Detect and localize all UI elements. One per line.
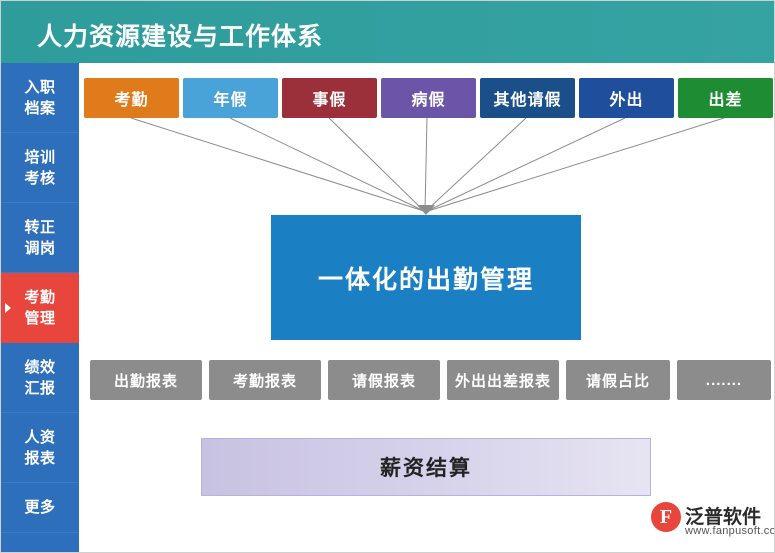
caret-right-icon bbox=[5, 303, 11, 313]
category-chip-label: 外出 bbox=[609, 86, 643, 110]
report-chip-label: ....... bbox=[706, 372, 742, 389]
category-chip-label: 事假 bbox=[312, 86, 346, 110]
category-chip-1[interactable]: 年假 bbox=[183, 78, 278, 118]
sidebar-item-label: 转正 调岗 bbox=[24, 217, 55, 259]
report-chip-label: 请假报表 bbox=[352, 370, 416, 391]
report-chip-label: 出勤报表 bbox=[114, 370, 178, 391]
sidebar-item-0[interactable]: 入职 档案 bbox=[1, 63, 79, 133]
report-chip-5[interactable]: ....... bbox=[677, 360, 771, 400]
report-chip-3[interactable]: 外出出差报表 bbox=[447, 360, 559, 400]
category-chip-label: 考勤 bbox=[114, 86, 148, 110]
category-chip-label: 年假 bbox=[213, 86, 247, 110]
report-chip-1[interactable]: 考勤报表 bbox=[209, 360, 321, 400]
report-chip-2[interactable]: 请假报表 bbox=[328, 360, 440, 400]
category-chip-0[interactable]: 考勤 bbox=[84, 78, 179, 118]
sidebar-item-label: 人资 报表 bbox=[24, 427, 55, 469]
category-chip-5[interactable]: 外出 bbox=[579, 78, 674, 118]
category-chip-2[interactable]: 事假 bbox=[282, 78, 377, 118]
diagram-canvas: 考勤 年假 事假 病假 其他请假 外出 出差 一体化的出勤管理 出勤报表 考勤报… bbox=[79, 63, 775, 553]
report-chip-0[interactable]: 出勤报表 bbox=[90, 360, 202, 400]
sidebar-item-label: 培训 考核 bbox=[24, 147, 55, 189]
arrow-head-icon bbox=[417, 205, 435, 215]
report-chip-label: 请假占比 bbox=[586, 370, 650, 391]
category-chip-3[interactable]: 病假 bbox=[381, 78, 476, 118]
category-chip-6[interactable]: 出差 bbox=[678, 78, 773, 118]
category-chip-label: 出差 bbox=[708, 86, 742, 110]
category-chip-label: 其他请假 bbox=[493, 86, 561, 110]
sidebar-item-5[interactable]: 人资 报表 bbox=[1, 413, 79, 483]
center-node-label: 一体化的出勤管理 bbox=[318, 260, 534, 296]
sidebar-item-label: 绩效 汇报 bbox=[24, 357, 55, 399]
page-header: 人力资源建设与工作体系 bbox=[1, 1, 775, 63]
brand-logo: F 泛普软件 www.fanpusoft.com bbox=[651, 500, 771, 546]
category-chip-4[interactable]: 其他请假 bbox=[480, 78, 575, 118]
report-chip-label: 考勤报表 bbox=[233, 370, 297, 391]
sidebar-item-3-active[interactable]: 考勤 管理 bbox=[1, 273, 79, 343]
category-chip-label: 病假 bbox=[411, 86, 445, 110]
salary-node-label: 薪资结算 bbox=[380, 452, 472, 482]
center-node[interactable]: 一体化的出勤管理 bbox=[271, 215, 581, 340]
page-title: 人力资源建设与工作体系 bbox=[37, 17, 323, 53]
report-chip-label: 外出出差报表 bbox=[455, 370, 551, 391]
logo-mark-icon: F bbox=[651, 502, 681, 532]
salary-node[interactable]: 薪资结算 bbox=[201, 438, 651, 496]
sidebar-item-label: 更多 bbox=[24, 497, 55, 518]
sidebar-item-6[interactable]: 更多 bbox=[1, 483, 79, 533]
sidebar: 入职 档案 培训 考核 转正 调岗 考勤 管理 绩效 汇报 人资 报表 更多 bbox=[1, 63, 79, 553]
page-root: 人力资源建设与工作体系 入职 档案 培训 考核 转正 调岗 考勤 管理 绩效 汇… bbox=[0, 0, 775, 553]
report-chip-4[interactable]: 请假占比 bbox=[566, 360, 670, 400]
logo-url: www.fanpusoft.com bbox=[685, 525, 775, 537]
sidebar-item-4[interactable]: 绩效 汇报 bbox=[1, 343, 79, 413]
sidebar-item-label: 入职 档案 bbox=[24, 77, 55, 119]
sidebar-item-2[interactable]: 转正 调岗 bbox=[1, 203, 79, 273]
sidebar-item-label: 考勤 管理 bbox=[24, 287, 55, 329]
sidebar-item-1[interactable]: 培训 考核 bbox=[1, 133, 79, 203]
